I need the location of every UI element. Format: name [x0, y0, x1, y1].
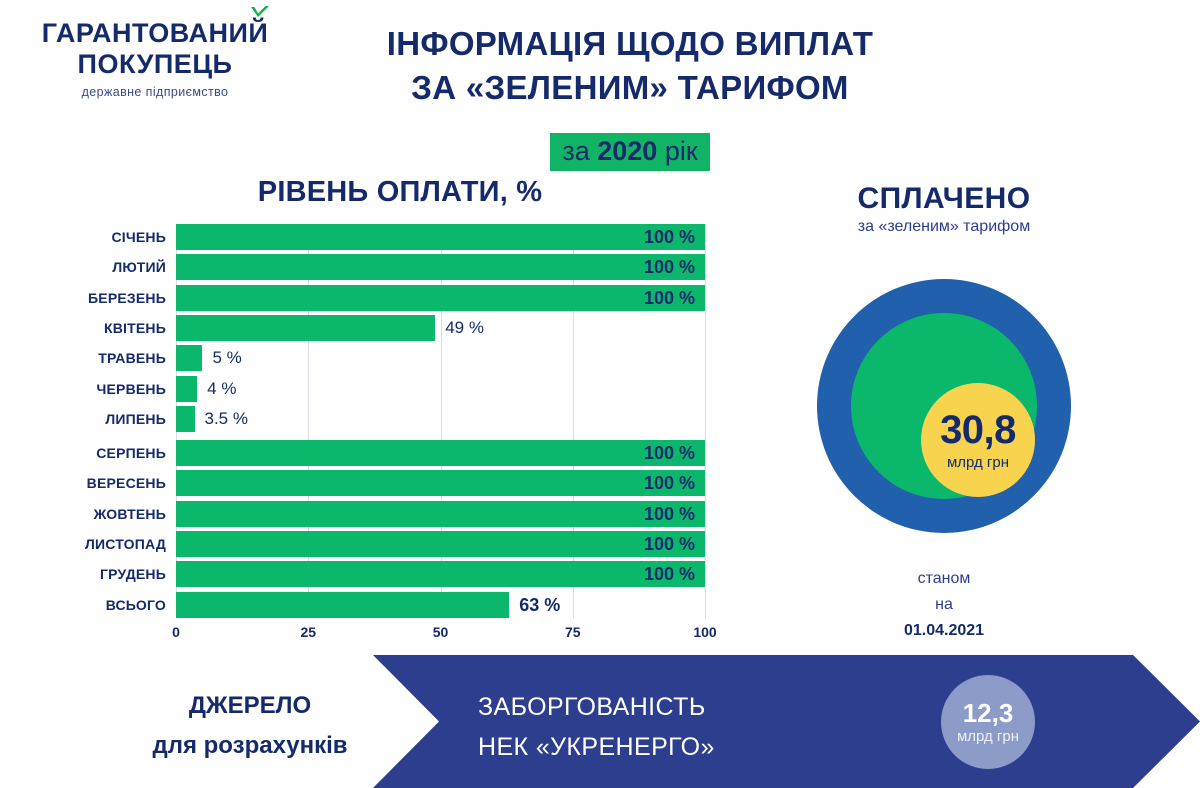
source-line-2: для розрахунків: [110, 726, 390, 766]
banner-line-1: ЗАБОРГОВАНІСТЬ: [478, 687, 898, 727]
paid-unit: млрд грн: [947, 454, 1009, 471]
source-block: ДЖЕРЕЛО для розрахунків: [110, 686, 390, 766]
chart-row-label: СЕРПЕНЬ: [6, 440, 166, 466]
chart-bar-value: 5 %: [212, 345, 241, 371]
donut-ring-inner: 30,8 млрд грн: [921, 383, 1035, 497]
page-title-line-1: ІНФОРМАЦІЯ ЩОДО ВИПЛАТ: [300, 22, 960, 66]
chart-row-label: ЛИПЕНЬ: [6, 406, 166, 432]
chart-row-label: ЖОВТЕНЬ: [6, 501, 166, 527]
chart-bar-row: 100 %: [176, 224, 705, 250]
chart-bar-value: 100 %: [565, 224, 695, 250]
chart-row-label: ТРАВЕНЬ: [6, 345, 166, 371]
as-of-block: станом на 01.04.2021: [819, 566, 1069, 644]
banner-line-2: НЕК «УКРЕНЕРГО»: [478, 727, 898, 767]
infographic-page: ГАРАНТОВАНИЙ ПОКУПЕЦЬ державне підприємс…: [0, 0, 1200, 788]
chart-gridline: [705, 224, 706, 618]
logo-line-2: ПОКУПЕЦЬ: [30, 49, 280, 80]
chart-x-tick: 25: [288, 624, 328, 640]
chart-title: РІВЕНЬ ОПЛАТИ, %: [80, 176, 720, 209]
chart-bar-row: 100 %: [176, 440, 705, 466]
payment-level-bar-chart: СІЧЕНЬ100 %ЛЮТИЙ100 %БЕРЕЗЕНЬ100 %КВІТЕН…: [176, 224, 705, 618]
chart-bar-value: 100 %: [565, 470, 695, 496]
chart-x-tick: 0: [156, 624, 196, 640]
chart-x-tick: 50: [421, 624, 461, 640]
chart-row-label: БЕРЕЗЕНЬ: [6, 285, 166, 311]
debt-unit: млрд грн: [957, 728, 1019, 745]
logo-line-1: ГАРАНТОВАНИЙ: [42, 18, 269, 49]
chart-row-label: КВІТЕНЬ: [6, 315, 166, 341]
debt-value: 12,3: [963, 699, 1014, 727]
chart-bar: [176, 315, 435, 341]
paid-title: СПЛАЧЕНО: [794, 182, 1094, 216]
chart-bar-row: 63 %: [176, 592, 705, 618]
as-of-line-1: станом: [819, 566, 1069, 592]
logo-subtitle: державне підприємство: [30, 85, 280, 99]
year-value: 2020: [597, 136, 657, 166]
chart-bar: [176, 345, 202, 371]
chart-bar-row: 100 %: [176, 470, 705, 496]
chart-bar-row: 4 %: [176, 376, 705, 402]
banner-text: ЗАБОРГОВАНІСТЬ НЕК «УКРЕНЕРГО»: [478, 687, 898, 767]
chart-bar-row: 49 %: [176, 315, 705, 341]
donut-ring-middle: 30,8 млрд грн: [851, 313, 1037, 499]
chart-bar-value: 100 %: [565, 440, 695, 466]
chart-bar-value: 3.5 %: [205, 406, 248, 432]
chart-bar-value: 4 %: [207, 376, 236, 402]
chart-row-label: СІЧЕНЬ: [6, 224, 166, 250]
year-prefix: за: [562, 136, 597, 166]
chart-bar-value: 63 %: [519, 592, 560, 618]
chart-bar-value: 100 %: [565, 561, 695, 587]
debt-banner: ЗАБОРГОВАНІСТЬ НЕК «УКРЕНЕРГО» 12,3 млрд…: [373, 655, 1200, 788]
chart-bar-row: 100 %: [176, 501, 705, 527]
page-title: ІНФОРМАЦІЯ ЩОДО ВИПЛАТ ЗА «ЗЕЛЕНИМ» ТАРИ…: [300, 22, 960, 110]
chart-row-label: ВЕРЕСЕНЬ: [6, 470, 166, 496]
source-line-1: ДЖЕРЕЛО: [110, 686, 390, 726]
year-badge-wrap: за 2020 рік: [300, 133, 960, 171]
logo-line-1-text: ГАРАНТОВАНИЙ: [42, 18, 269, 48]
company-logo: ГАРАНТОВАНИЙ ПОКУПЕЦЬ державне підприємс…: [30, 18, 280, 99]
chart-row-label: ВСЬОГО: [6, 592, 166, 618]
chart-bar-row: 100 %: [176, 285, 705, 311]
chart-x-tick: 75: [553, 624, 593, 640]
chart-bar-value: 100 %: [565, 531, 695, 557]
paid-donut-chart: 30,8 млрд грн: [817, 279, 1071, 533]
chart-row-label: ЛИСТОПАД: [6, 531, 166, 557]
chart-bar-row: 100 %: [176, 531, 705, 557]
chart-bar-row: 100 %: [176, 254, 705, 280]
debt-amount-badge: 12,3 млрд грн: [941, 675, 1035, 769]
page-title-line-2: ЗА «ЗЕЛЕНИМ» ТАРИФОМ: [300, 66, 960, 110]
chart-row-label: ЧЕРВЕНЬ: [6, 376, 166, 402]
paid-subtitle: за «зеленим» тарифом: [794, 218, 1094, 236]
year-badge: за 2020 рік: [550, 133, 709, 171]
check-icon: [250, 5, 270, 19]
chart-bar-value: 100 %: [565, 254, 695, 280]
chart-row-label: ЛЮТИЙ: [6, 254, 166, 280]
chart-bar-value: 49 %: [445, 315, 484, 341]
chart-row-label: ГРУДЕНЬ: [6, 561, 166, 587]
year-suffix: рік: [657, 136, 697, 166]
chart-bar-row: 100 %: [176, 561, 705, 587]
paid-value: 30,8: [940, 410, 1016, 450]
chart-bar-value: 100 %: [565, 501, 695, 527]
as-of-line-2: на: [819, 592, 1069, 618]
as-of-date: 01.04.2021: [819, 618, 1069, 644]
chart-bar: [176, 592, 509, 618]
chart-bar-value: 100 %: [565, 285, 695, 311]
chart-bar: [176, 376, 197, 402]
donut-ring-outer: 30,8 млрд грн: [817, 279, 1071, 533]
chart-bar: [176, 406, 195, 432]
chart-bar-row: 5 %: [176, 345, 705, 371]
chart-x-tick: 100: [685, 624, 725, 640]
chart-bar-row: 3.5 %: [176, 406, 705, 432]
